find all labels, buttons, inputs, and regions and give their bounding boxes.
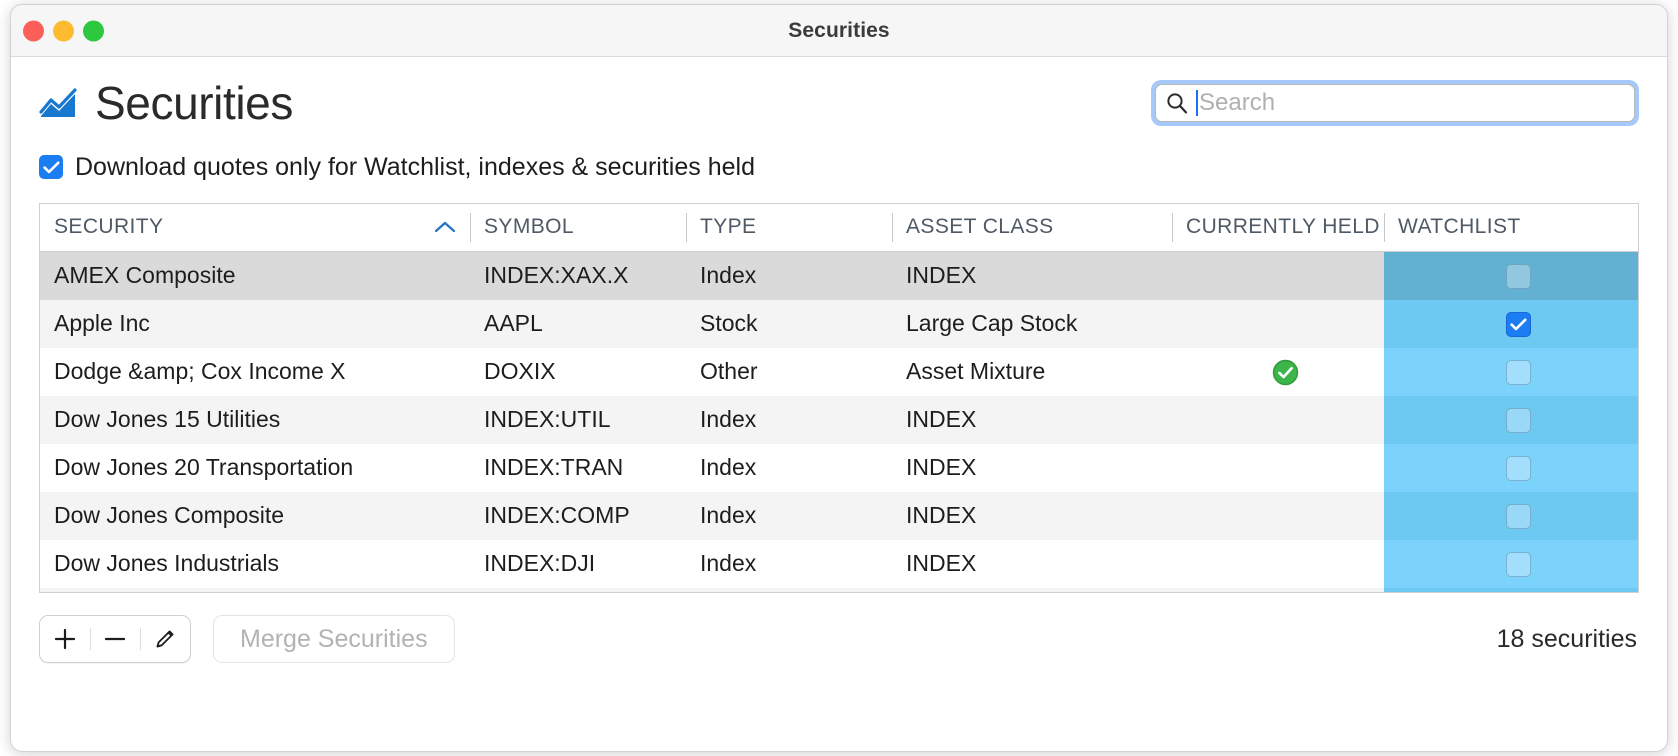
cell-watchlist[interactable]	[1384, 540, 1638, 588]
search-icon	[1166, 92, 1188, 114]
cell-watchlist[interactable]	[1384, 588, 1638, 594]
cell-security: Apple Inc	[40, 300, 470, 348]
cell-currently-held	[1172, 588, 1384, 594]
cell-security: Dow Jones 20 Transportation	[40, 444, 470, 492]
text-cursor	[1196, 90, 1198, 116]
watchlist-checkbox[interactable]	[1506, 552, 1531, 577]
column-divider	[892, 213, 893, 242]
cell-currently-held	[1172, 300, 1384, 348]
cell-security: Dodge &amp; Cox Income X	[40, 348, 470, 396]
table-row[interactable]: Dodge &amp; Cox Income XDOXIXOtherAsset …	[40, 348, 1638, 396]
column-header-type[interactable]: TYPE	[686, 204, 892, 252]
table-header-row: SECURITY SYMBOL	[40, 204, 1638, 252]
search-placeholder: Search	[1199, 91, 1275, 115]
column-divider	[686, 213, 687, 242]
column-header-asset-class[interactable]: ASSET CLASS	[892, 204, 1172, 252]
watchlist-checkbox[interactable]	[1506, 408, 1531, 433]
watchlist-checkbox[interactable]	[1506, 264, 1531, 289]
held-check-icon	[1272, 359, 1299, 386]
cell-type: Index	[686, 444, 892, 492]
search-field[interactable]: Search	[1151, 80, 1639, 126]
add-security-button[interactable]	[40, 616, 90, 662]
column-header-asset-class-label: ASSET CLASS	[906, 215, 1054, 238]
cell-type: Other	[686, 588, 892, 594]
watchlist-checkbox[interactable]	[1506, 504, 1531, 529]
watchlist-checkbox[interactable]	[1506, 456, 1531, 481]
securities-table: SECURITY SYMBOL	[39, 203, 1639, 593]
cell-asset-class: Asset Mixture	[892, 348, 1172, 396]
search-input-box[interactable]: Search	[1155, 84, 1635, 122]
table-row[interactable]: AMEX CompositeINDEX:XAX.XIndexINDEX	[40, 252, 1638, 300]
pencil-icon	[152, 626, 178, 652]
cell-asset-class: Asset Mixture	[892, 588, 1172, 594]
cell-asset-class: Large Cap Stock	[892, 300, 1172, 348]
cell-asset-class: INDEX	[892, 492, 1172, 540]
edit-security-button[interactable]	[140, 616, 190, 662]
window-content: Securities Search	[11, 57, 1667, 665]
cell-security: Dow Jones 15 Utilities	[40, 396, 470, 444]
watchlist-checkbox-checked[interactable]	[1506, 312, 1531, 337]
column-header-symbol[interactable]: SYMBOL	[470, 204, 686, 252]
cell-asset-class: INDEX	[892, 540, 1172, 588]
cell-watchlist[interactable]	[1384, 348, 1638, 396]
cell-asset-class: INDEX	[892, 444, 1172, 492]
table-row[interactable]: Dow Jones 20 TransportationINDEX:TRANInd…	[40, 444, 1638, 492]
table-row[interactable]: Dow Jones IndustrialsINDEX:DJIIndexINDEX	[40, 540, 1638, 588]
cell-asset-class: INDEX	[892, 396, 1172, 444]
cell-type: Index	[686, 252, 892, 300]
remove-security-button[interactable]	[90, 616, 140, 662]
cell-type: Index	[686, 396, 892, 444]
search-focus-ring: Search	[1151, 80, 1639, 126]
column-header-security[interactable]: SECURITY	[40, 204, 470, 252]
window-title: Securities	[11, 19, 1667, 43]
table-row[interactable]: Dow Jones 15 UtilitiesINDEX:UTILIndexIND…	[40, 396, 1638, 444]
column-divider	[470, 213, 471, 242]
cell-symbol: AAPL	[470, 300, 686, 348]
download-quotes-checkbox[interactable]	[39, 155, 63, 179]
cell-watchlist[interactable]	[1384, 300, 1638, 348]
cell-currently-held	[1172, 396, 1384, 444]
line-chart-icon	[39, 86, 79, 120]
window-titlebar: Securities	[11, 5, 1667, 57]
download-quotes-label: Download quotes only for Watchlist, inde…	[75, 153, 755, 182]
column-header-watchlist[interactable]: WATCHLIST	[1384, 204, 1638, 252]
column-divider	[1172, 213, 1173, 242]
merge-securities-button[interactable]: Merge Securities	[213, 615, 455, 663]
cell-symbol: INDEX:TRAN	[470, 444, 686, 492]
cell-symbol: INDEX:COMP	[470, 492, 686, 540]
cell-asset-class: INDEX	[892, 252, 1172, 300]
cell-security: AMEX Composite	[40, 252, 470, 300]
cell-watchlist[interactable]	[1384, 492, 1638, 540]
cell-type: Stock	[686, 300, 892, 348]
table-body: AMEX CompositeINDEX:XAX.XIndexINDEXApple…	[40, 252, 1638, 594]
column-header-security-label: SECURITY	[54, 215, 163, 238]
watchlist-checkbox[interactable]	[1506, 360, 1531, 385]
table-row[interactable]: Apple IncAAPLStockLarge Cap Stock	[40, 300, 1638, 348]
cell-watchlist[interactable]	[1384, 444, 1638, 492]
page-header: Securities Search	[39, 57, 1639, 149]
cell-symbol: INDEX:UTIL	[470, 396, 686, 444]
minus-icon	[102, 626, 128, 652]
download-quotes-option-row[interactable]: Download quotes only for Watchlist, inde…	[39, 145, 1639, 189]
cell-watchlist[interactable]	[1384, 252, 1638, 300]
cell-symbol: INDEX:DJI	[470, 540, 686, 588]
table-row[interactable]: Fidelity Mid Cap IndexFSMDXOtherAsset Mi…	[40, 588, 1638, 594]
cell-security: Dow Jones Composite	[40, 492, 470, 540]
column-divider	[1384, 213, 1385, 242]
column-header-symbol-label: SYMBOL	[484, 215, 574, 238]
cell-type: Index	[686, 492, 892, 540]
sort-ascending-icon	[434, 216, 456, 240]
column-header-currently-held-label: CURRENTLY HELD	[1186, 215, 1380, 238]
cell-currently-held	[1172, 444, 1384, 492]
record-actions-segmented-control	[39, 615, 191, 663]
column-header-watchlist-label: WATCHLIST	[1398, 215, 1521, 238]
securities-count-label: 18 securities	[1497, 625, 1639, 654]
table-row[interactable]: Dow Jones CompositeINDEX:COMPIndexINDEX	[40, 492, 1638, 540]
cell-security: Dow Jones Industrials	[40, 540, 470, 588]
cell-currently-held	[1172, 252, 1384, 300]
page-title: Securities	[95, 80, 293, 126]
cell-currently-held	[1172, 492, 1384, 540]
bottom-toolbar: Merge Securities 18 securities	[39, 613, 1639, 665]
cell-watchlist[interactable]	[1384, 396, 1638, 444]
cell-currently-held	[1172, 348, 1384, 396]
column-header-currently-held[interactable]: CURRENTLY HELD	[1172, 204, 1384, 252]
plus-icon	[52, 626, 78, 652]
column-header-type-label: TYPE	[700, 215, 756, 238]
cell-symbol: INDEX:XAX.X	[470, 252, 686, 300]
cell-symbol: FSMDX	[470, 588, 686, 594]
cell-security: Fidelity Mid Cap Index	[40, 588, 470, 594]
cell-currently-held	[1172, 540, 1384, 588]
cell-type: Other	[686, 348, 892, 396]
cell-type: Index	[686, 540, 892, 588]
securities-window: Securities Securities	[10, 4, 1668, 752]
cell-symbol: DOXIX	[470, 348, 686, 396]
